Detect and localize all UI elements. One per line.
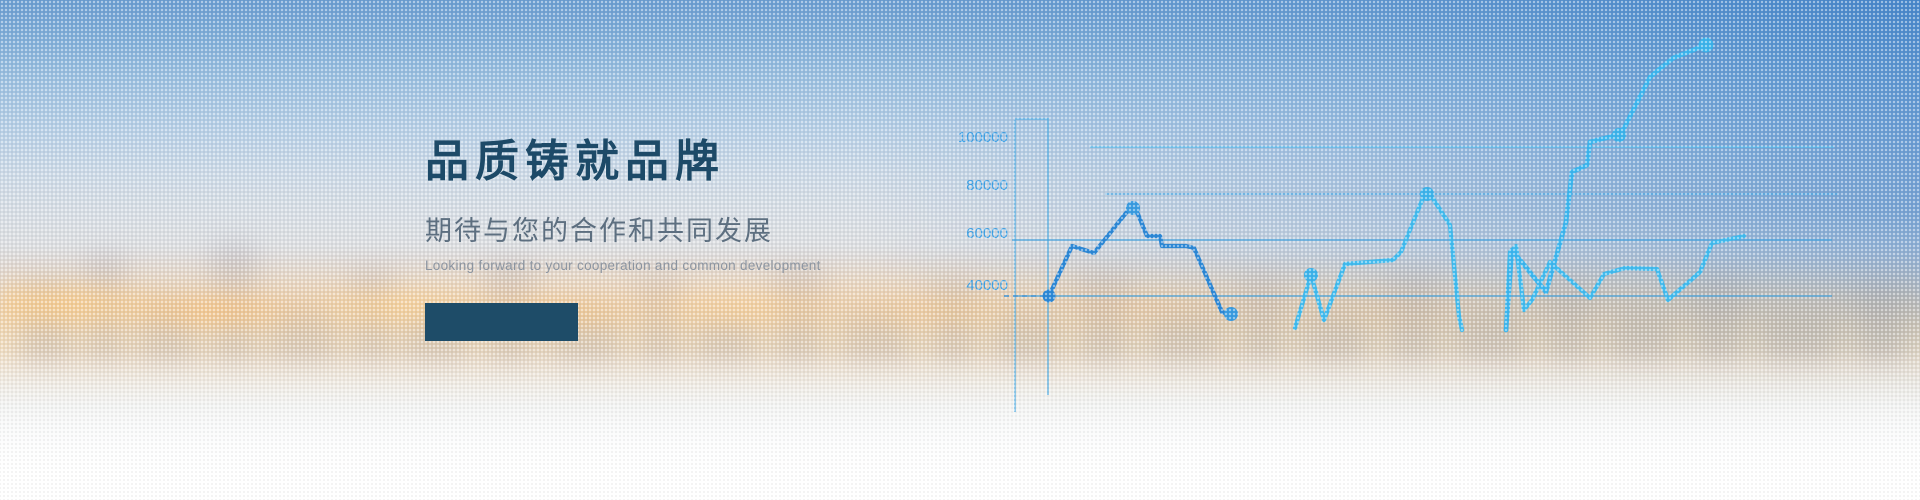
hero-banner: 100000 80000 60000 40000	[0, 0, 1920, 500]
cta-button[interactable]	[425, 303, 578, 341]
hero-subtitle-cn: 期待与您的合作和共同发展	[425, 218, 945, 245]
hero-text-block: 品质铸就品牌 期待与您的合作和共同发展 Looking forward to y…	[425, 140, 945, 341]
hero-subtitle-en: Looking forward to your cooperation and …	[425, 259, 945, 273]
bottom-haze	[0, 350, 1920, 500]
page-title: 品质铸就品牌	[425, 140, 945, 184]
